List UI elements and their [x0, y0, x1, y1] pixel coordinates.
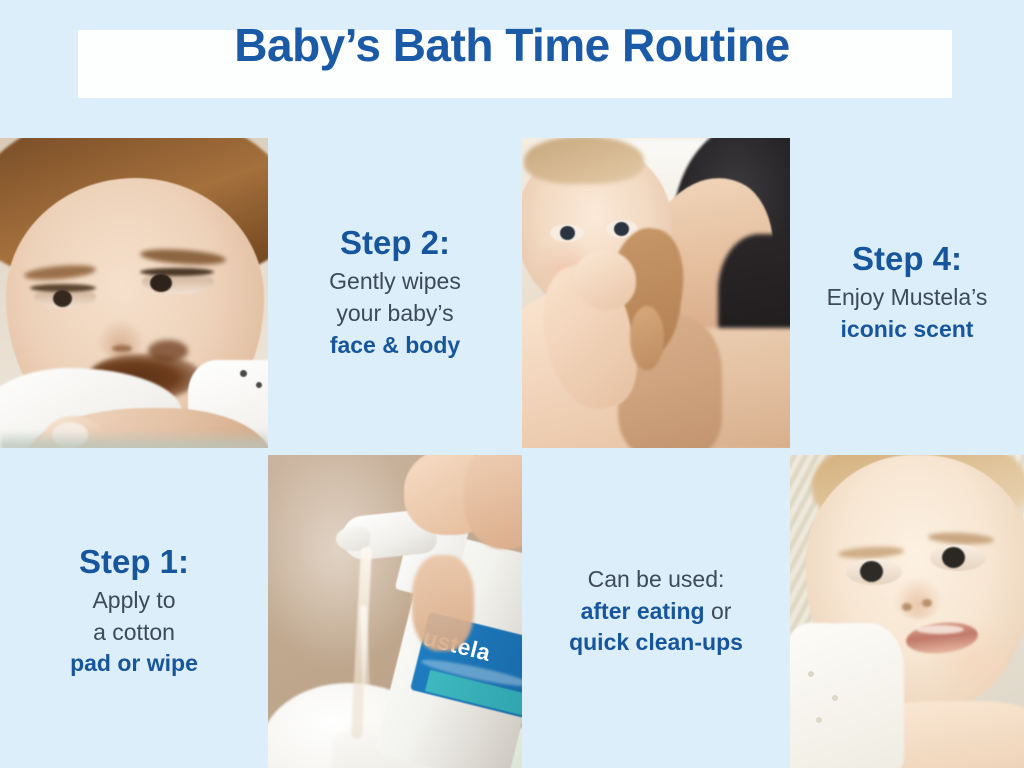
page-title: Baby’s Bath Time Routine	[0, 22, 1024, 68]
step-1-line-2: a cotton	[93, 617, 175, 649]
photo-detail-baby-hair	[524, 138, 644, 184]
bath-time-routine-infographic: Baby’s Bath Time Routine Step 2: Gently …	[0, 0, 1024, 768]
step-4-heading: Step 4:	[852, 240, 962, 278]
photo-detail-nostril	[922, 599, 932, 607]
usage-line-2-bold: after eating	[581, 598, 705, 624]
step-1-line-3: pad or wipe	[70, 648, 198, 680]
photo-detail-nose	[894, 577, 942, 619]
photo-detail-bib-dot	[240, 370, 247, 377]
step-1-heading: Step 1:	[79, 543, 189, 581]
step-1-line-1: Apply to	[92, 585, 175, 617]
photo-detail-nostril	[902, 603, 912, 611]
photo-detail-pupil-right	[150, 274, 172, 292]
step-4-line-1: Enjoy Mustela’s	[827, 282, 988, 314]
photo-baby-chocolate-face	[0, 138, 268, 448]
cell-step-2: Step 2: Gently wipes your baby’s face & …	[268, 138, 522, 448]
photo-detail-chocolate-smudge-2	[148, 340, 188, 362]
cell-usage-note: Can be used: after eating or quick clean…	[522, 455, 790, 768]
usage-line-2: after eating or	[581, 596, 732, 628]
photo-detail-blanket-dot	[816, 717, 822, 723]
photo-detail-foreground	[0, 430, 268, 448]
usage-line-2-tail: or	[705, 598, 732, 624]
usage-line-3: quick clean-ups	[569, 627, 743, 659]
photo-detail-blanket-dot	[808, 671, 814, 677]
photo-mustela-bottle-pouring: ustela	[268, 455, 522, 768]
photo-detail-lash-right	[140, 268, 214, 276]
photo-detail-baby-pupil-left	[560, 226, 575, 240]
photo-detail-nose	[98, 320, 144, 358]
step-2-line-3: face & body	[330, 330, 460, 362]
cell-step-4: Step 4: Enjoy Mustela’s iconic scent	[790, 138, 1024, 448]
photo-detail-mouth-highlight	[916, 625, 964, 634]
photo-detail-baby-pupil-right	[614, 222, 629, 236]
photo-detail-blanket-fold	[790, 623, 904, 768]
photo-mother-kissing-baby	[522, 138, 790, 448]
step-2-line-1: Gently wipes	[329, 266, 461, 298]
photo-detail-baby-hand	[574, 250, 636, 310]
photo-baby-on-blanket	[790, 455, 1024, 768]
photo-detail-pupil-left	[53, 290, 72, 307]
photo-detail-blanket-dot	[832, 695, 838, 701]
photo-detail-nostril	[112, 345, 132, 352]
photo-detail-pupil-right	[942, 547, 965, 568]
usage-line-1: Can be used:	[588, 564, 725, 596]
photo-detail-knuckles	[464, 455, 522, 549]
step-2-line-2: your baby’s	[336, 298, 453, 330]
photo-detail-pupil-left	[860, 561, 883, 582]
step-4-line-2: iconic scent	[841, 314, 974, 346]
photo-detail-bib-dot	[256, 382, 262, 388]
photo-detail-mother-fingers	[630, 306, 664, 370]
cell-step-1: Step 1: Apply to a cotton pad or wipe	[0, 455, 268, 768]
photo-detail-palm	[412, 555, 474, 651]
step-2-heading: Step 2:	[340, 224, 450, 262]
